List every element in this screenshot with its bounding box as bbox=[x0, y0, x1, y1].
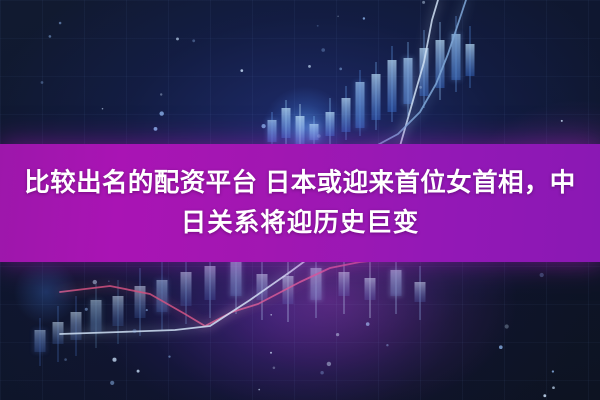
headline-line-1: 比较出名的配资平台 日本或迎来首位女首相，中 bbox=[24, 163, 575, 203]
headline-line-2: 日关系将迎历史巨变 bbox=[181, 203, 420, 243]
upper-candle-group bbox=[267, 16, 475, 152]
image-canvas: 比较出名的配资平台 日本或迎来首位女首相，中 日关系将迎历史巨变 bbox=[0, 0, 600, 400]
headline-banner: 比较出名的配资平台 日本或迎来首位女首相，中 日关系将迎历史巨变 bbox=[0, 144, 600, 262]
